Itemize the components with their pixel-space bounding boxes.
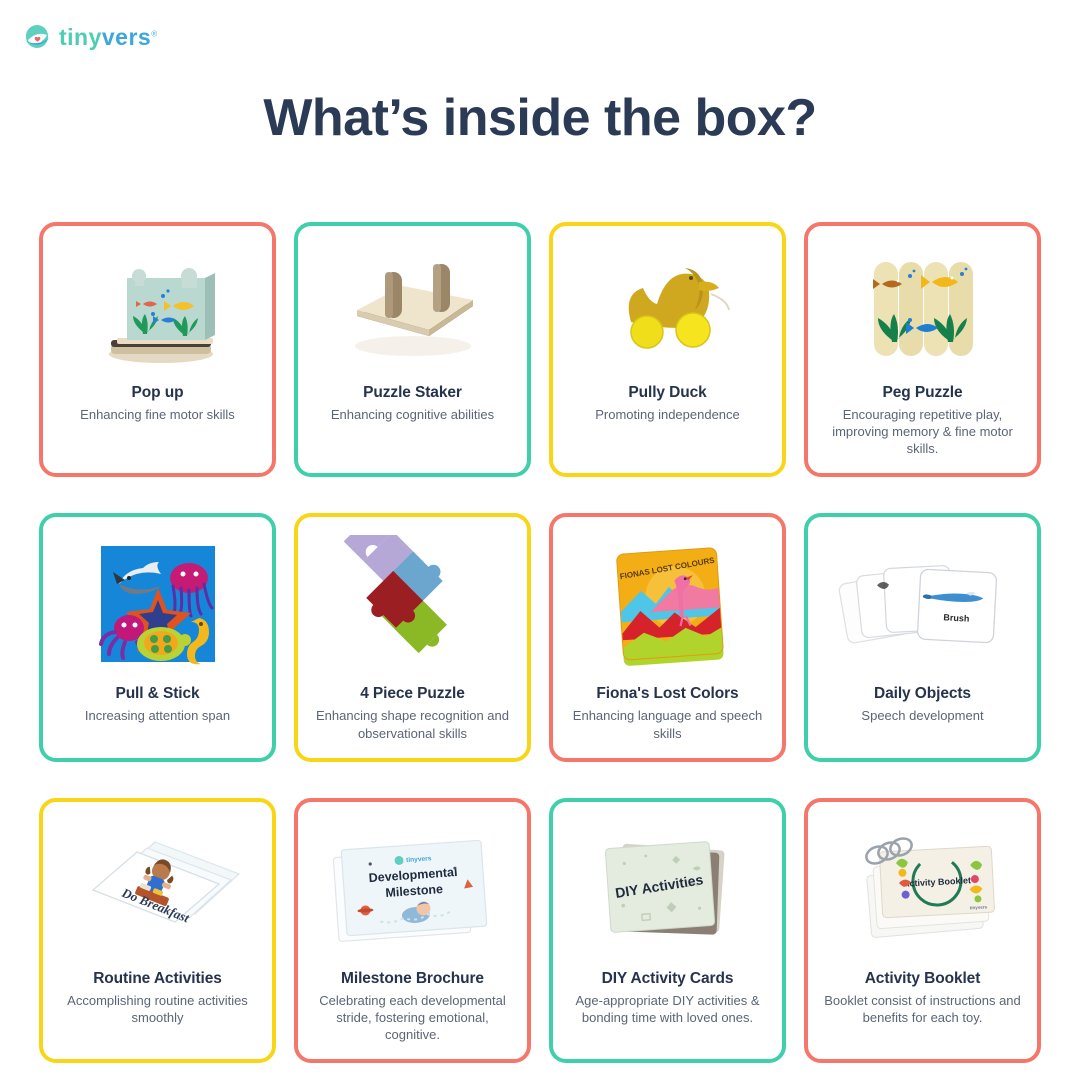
product-card-activity-booklet[interactable]: Activity Booklet tinyvers bbox=[804, 798, 1041, 1063]
product-card-4-piece-puzzle[interactable]: 4 Piece Puzzle Enhancing shape recogniti… bbox=[294, 513, 531, 761]
card-description: Celebrating each developmental stride, f… bbox=[313, 992, 513, 1043]
diy-activity-cards-stack-image: DIY Activities bbox=[568, 816, 768, 964]
product-card-routine-activities[interactable]: Do Breakfast Routine Activities Accompli… bbox=[39, 798, 276, 1063]
card-description: Enhancing fine motor skills bbox=[80, 406, 235, 423]
card-title: Pop up bbox=[132, 384, 184, 402]
card-description: Enhancing cognitive abilities bbox=[331, 406, 494, 423]
brand-name-part1: tiny bbox=[59, 24, 102, 50]
card-description: Enhancing shape recognition and observat… bbox=[313, 707, 513, 741]
card-title: Activity Booklet bbox=[865, 970, 981, 988]
product-card-pop-up[interactable]: Pop up Enhancing fine motor skills bbox=[39, 222, 276, 477]
brand-wordmark: tinyvers® bbox=[59, 26, 158, 49]
card-title: Fiona's Lost Colors bbox=[596, 685, 738, 703]
card-description: Speech development bbox=[861, 707, 983, 724]
card-description: Enhancing language and speech skills bbox=[568, 707, 768, 741]
card-title: 4 Piece Puzzle bbox=[360, 685, 465, 703]
wooden-peg-stacker-base-image bbox=[313, 240, 513, 378]
card-title: Pull & Stick bbox=[115, 685, 199, 703]
brand-logo: tinyvers® bbox=[22, 22, 158, 52]
fionas-lost-colours-board-book-image: FIONAS LOST COLOURS bbox=[568, 531, 768, 679]
product-card-fionas-lost-colors[interactable]: FIONAS LOST COLOURS Fiona's Lost Colors … bbox=[549, 513, 786, 761]
product-card-puzzle-staker[interactable]: Puzzle Staker Enhancing cognitive abilit… bbox=[294, 222, 531, 477]
product-card-diy-activity-cards[interactable]: DIY Activities DIY Activity Cards Age-ap… bbox=[549, 798, 786, 1063]
card-title: Peg Puzzle bbox=[883, 384, 963, 402]
tinyvers-globe-heart-icon bbox=[22, 22, 52, 52]
product-card-milestone-brochure[interactable]: tinyvers Developmental Milestone bbox=[294, 798, 531, 1063]
page-title: What’s inside the box? bbox=[0, 88, 1080, 148]
blue-felt-board-sea-animals-image bbox=[58, 531, 258, 679]
product-card-peg-puzzle[interactable]: Peg Puzzle Encouraging repetitive play, … bbox=[804, 222, 1041, 477]
product-card-daily-objects[interactable]: Brush Daily Objects Speech development bbox=[804, 513, 1041, 761]
card-title: DIY Activity Cards bbox=[602, 970, 734, 988]
wooden-peg-puzzle-fish-strips-image bbox=[823, 240, 1023, 378]
svg-text:tinyvers: tinyvers bbox=[969, 905, 987, 911]
brand-name-part2: vers bbox=[102, 24, 151, 50]
product-card-pull-and-stick[interactable]: Pull & Stick Increasing attention span bbox=[39, 513, 276, 761]
wooden-pull-along-duck-image bbox=[568, 240, 768, 378]
card-description: Increasing attention span bbox=[85, 707, 230, 724]
flash-card-label: Brush bbox=[943, 613, 970, 624]
developmental-milestone-brochure-image: tinyvers Developmental Milestone bbox=[313, 816, 513, 964]
spiral-bound-activity-booklet-image: Activity Booklet tinyvers bbox=[823, 816, 1023, 964]
card-title: Pully Duck bbox=[628, 384, 706, 402]
card-description: Promoting independence bbox=[595, 406, 740, 423]
four-piece-jigsaw-puzzle-image bbox=[313, 531, 513, 679]
card-description: Booklet consist of instructions and bene… bbox=[823, 992, 1023, 1026]
daily-objects-flash-cards-image: Brush bbox=[823, 531, 1023, 679]
card-title: Daily Objects bbox=[874, 685, 971, 703]
card-title: Routine Activities bbox=[93, 970, 222, 988]
product-card-pully-duck[interactable]: Pully Duck Promoting independence bbox=[549, 222, 786, 477]
card-title: Puzzle Staker bbox=[363, 384, 462, 402]
card-description: Accomplishing routine activities smoothl… bbox=[58, 992, 258, 1026]
card-description: Age-appropriate DIY activities & bonding… bbox=[568, 992, 768, 1026]
wooden-popup-fish-board-image bbox=[58, 240, 258, 378]
registered-mark: ® bbox=[151, 29, 157, 38]
product-card-grid: Pop up Enhancing fine motor skills Puzzl… bbox=[40, 222, 1040, 1063]
routine-activity-cards-image: Do Breakfast bbox=[58, 816, 258, 964]
infographic-page: tinyvers® What’s inside the box? bbox=[0, 0, 1080, 1080]
card-description: Encouraging repetitive play, improving m… bbox=[823, 406, 1023, 457]
card-title: Milestone Brochure bbox=[341, 970, 484, 988]
